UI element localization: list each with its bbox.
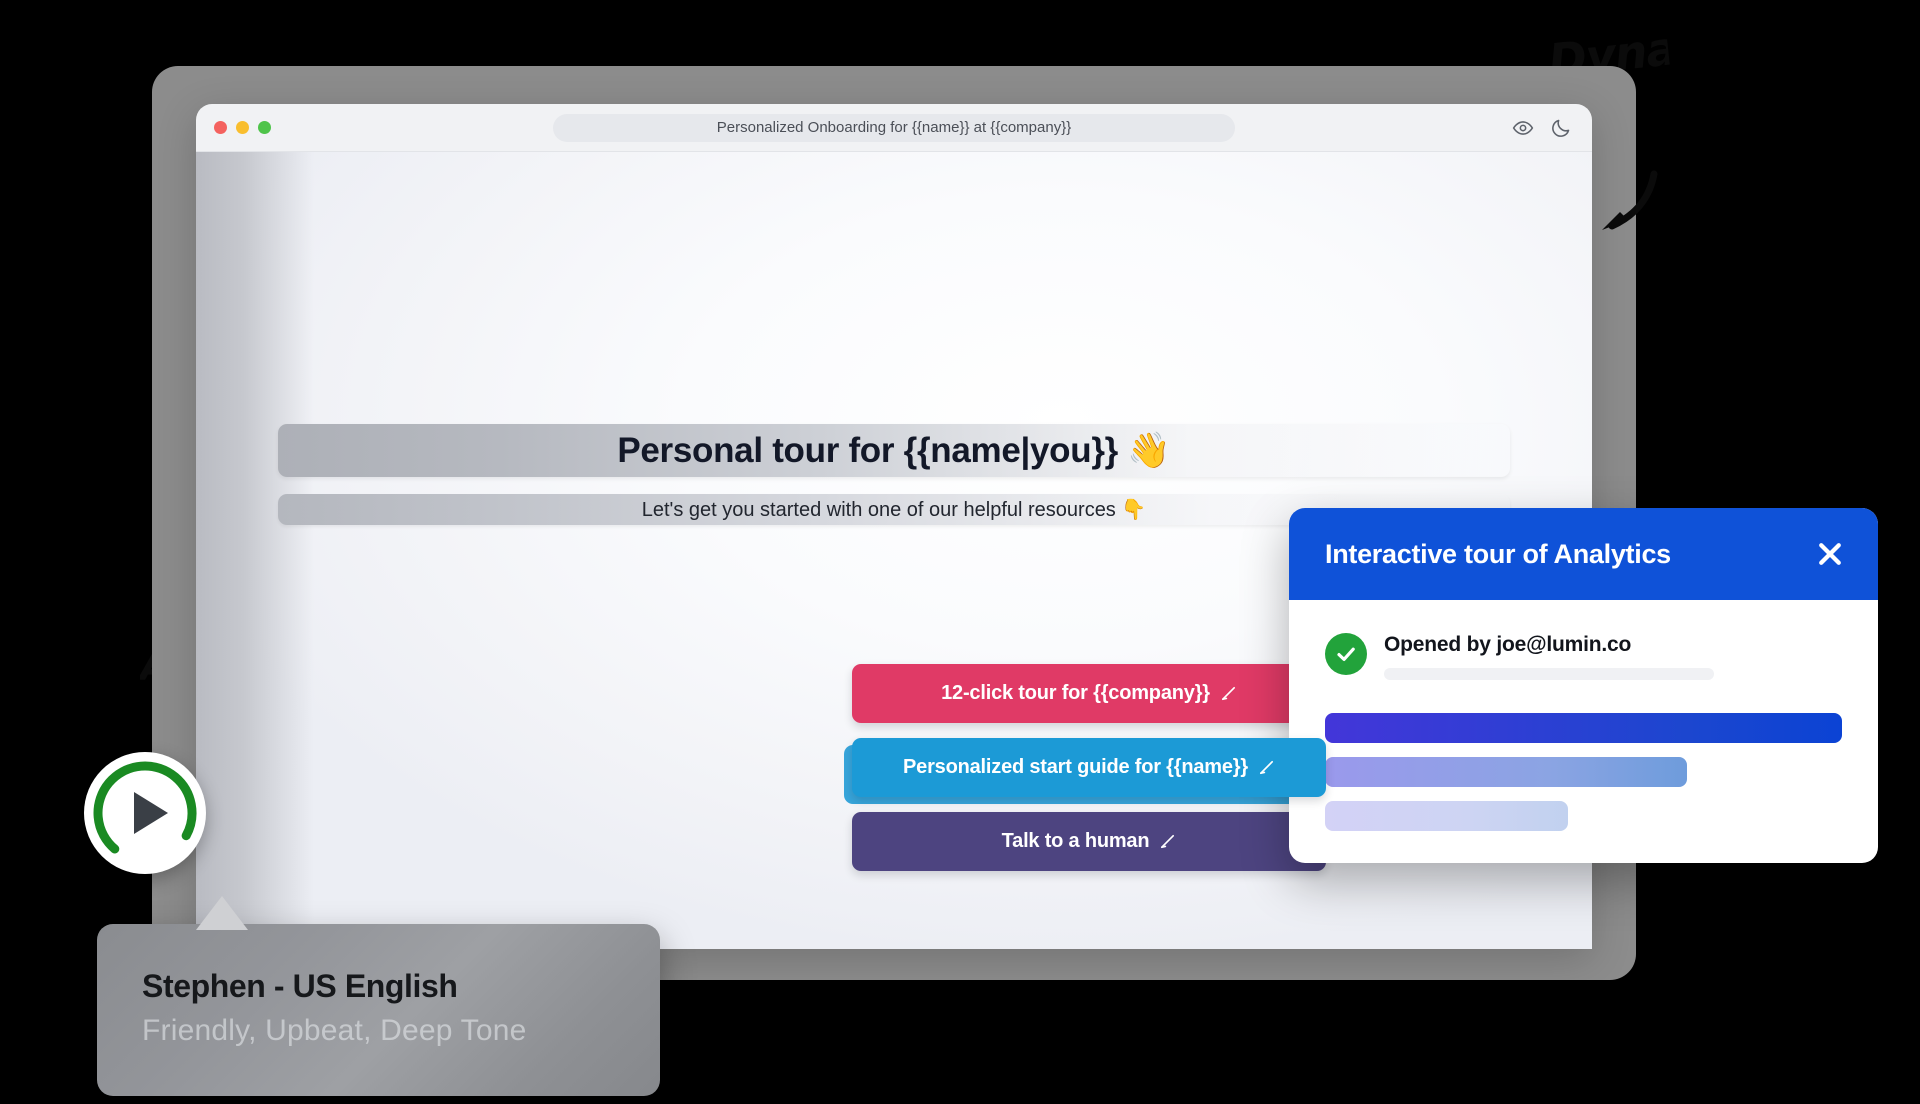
voice-tags-label: Friendly, Upbeat, Deep Tone [142, 1014, 660, 1048]
opened-status-row: Opened by joe@lumin.co [1325, 630, 1842, 680]
voice-name-label: Stephen - US English [142, 968, 660, 1005]
progress-bar-1 [1325, 713, 1842, 743]
analytics-panel-title: Interactive tour of Analytics [1325, 539, 1671, 570]
opened-detail-skeleton [1384, 668, 1714, 680]
pencil-icon[interactable] [1159, 833, 1176, 850]
address-bar-text: Personalized Onboarding for {{name}} at … [717, 119, 1071, 136]
cta-tour-label: 12-click tour for {{company}} [941, 682, 1210, 705]
play-icon [84, 752, 206, 874]
cta-tour-wrapper: 12-click tour for {{company}} [852, 664, 1326, 723]
cta-button-stack: 12-click tour for {{company}} Personaliz… [852, 664, 1326, 871]
opened-by-label: Opened by joe@lumin.co [1384, 633, 1842, 657]
edge-shade [196, 152, 314, 949]
voice-card-pointer [196, 896, 248, 930]
pencil-icon[interactable] [1220, 685, 1237, 702]
progress-bar-3 [1325, 801, 1568, 831]
progress-bar-2 [1325, 757, 1687, 787]
play-button[interactable] [84, 752, 206, 874]
address-bar[interactable]: Personalized Onboarding for {{name}} at … [553, 114, 1235, 142]
browser-titlebar: Personalized Onboarding for {{name}} at … [196, 104, 1592, 152]
analytics-popup-panel: Interactive tour of Analytics Opened by … [1289, 508, 1878, 863]
check-circle-icon [1325, 633, 1367, 675]
pencil-icon[interactable] [1258, 759, 1275, 776]
analytics-progress-bars [1325, 713, 1842, 831]
cta-human-label: Talk to a human [1002, 830, 1150, 853]
zoom-window-button[interactable] [258, 121, 271, 134]
eye-icon[interactable] [1512, 117, 1534, 139]
titlebar-icon-group [1512, 117, 1572, 139]
cta-12-click-tour-button[interactable]: 12-click tour for {{company}} [852, 664, 1326, 723]
traffic-lights [214, 121, 271, 134]
analytics-panel-header: Interactive tour of Analytics [1289, 508, 1878, 600]
moon-icon[interactable] [1550, 117, 1572, 139]
heading-row: Personal tour for {{name|you}} 👋 [196, 424, 1592, 477]
screenshot-canvas: Dyna AI Personalized Onboarding for {{na… [0, 0, 1920, 1104]
cta-guide-label: Personalized start guide for {{name}} [903, 756, 1248, 779]
close-window-button[interactable] [214, 121, 227, 134]
opened-status-text-column: Opened by joe@lumin.co [1384, 630, 1842, 680]
cta-personalized-start-guide-button[interactable]: Personalized start guide for {{name}} [852, 738, 1326, 797]
analytics-panel-body: Opened by joe@lumin.co [1289, 600, 1878, 831]
cta-guide-wrapper: Personalized start guide for {{name}} [852, 738, 1326, 797]
page-title: Personal tour for {{name|you}} 👋 [278, 430, 1510, 471]
close-icon[interactable] [1812, 536, 1848, 572]
voice-info-card[interactable]: Stephen - US English Friendly, Upbeat, D… [97, 924, 660, 1096]
cta-talk-to-a-human-button[interactable]: Talk to a human [852, 812, 1326, 871]
heading-skeleton-bar: Personal tour for {{name|you}} 👋 [278, 424, 1510, 477]
minimize-window-button[interactable] [236, 121, 249, 134]
cta-human-wrapper: Talk to a human [852, 812, 1326, 871]
